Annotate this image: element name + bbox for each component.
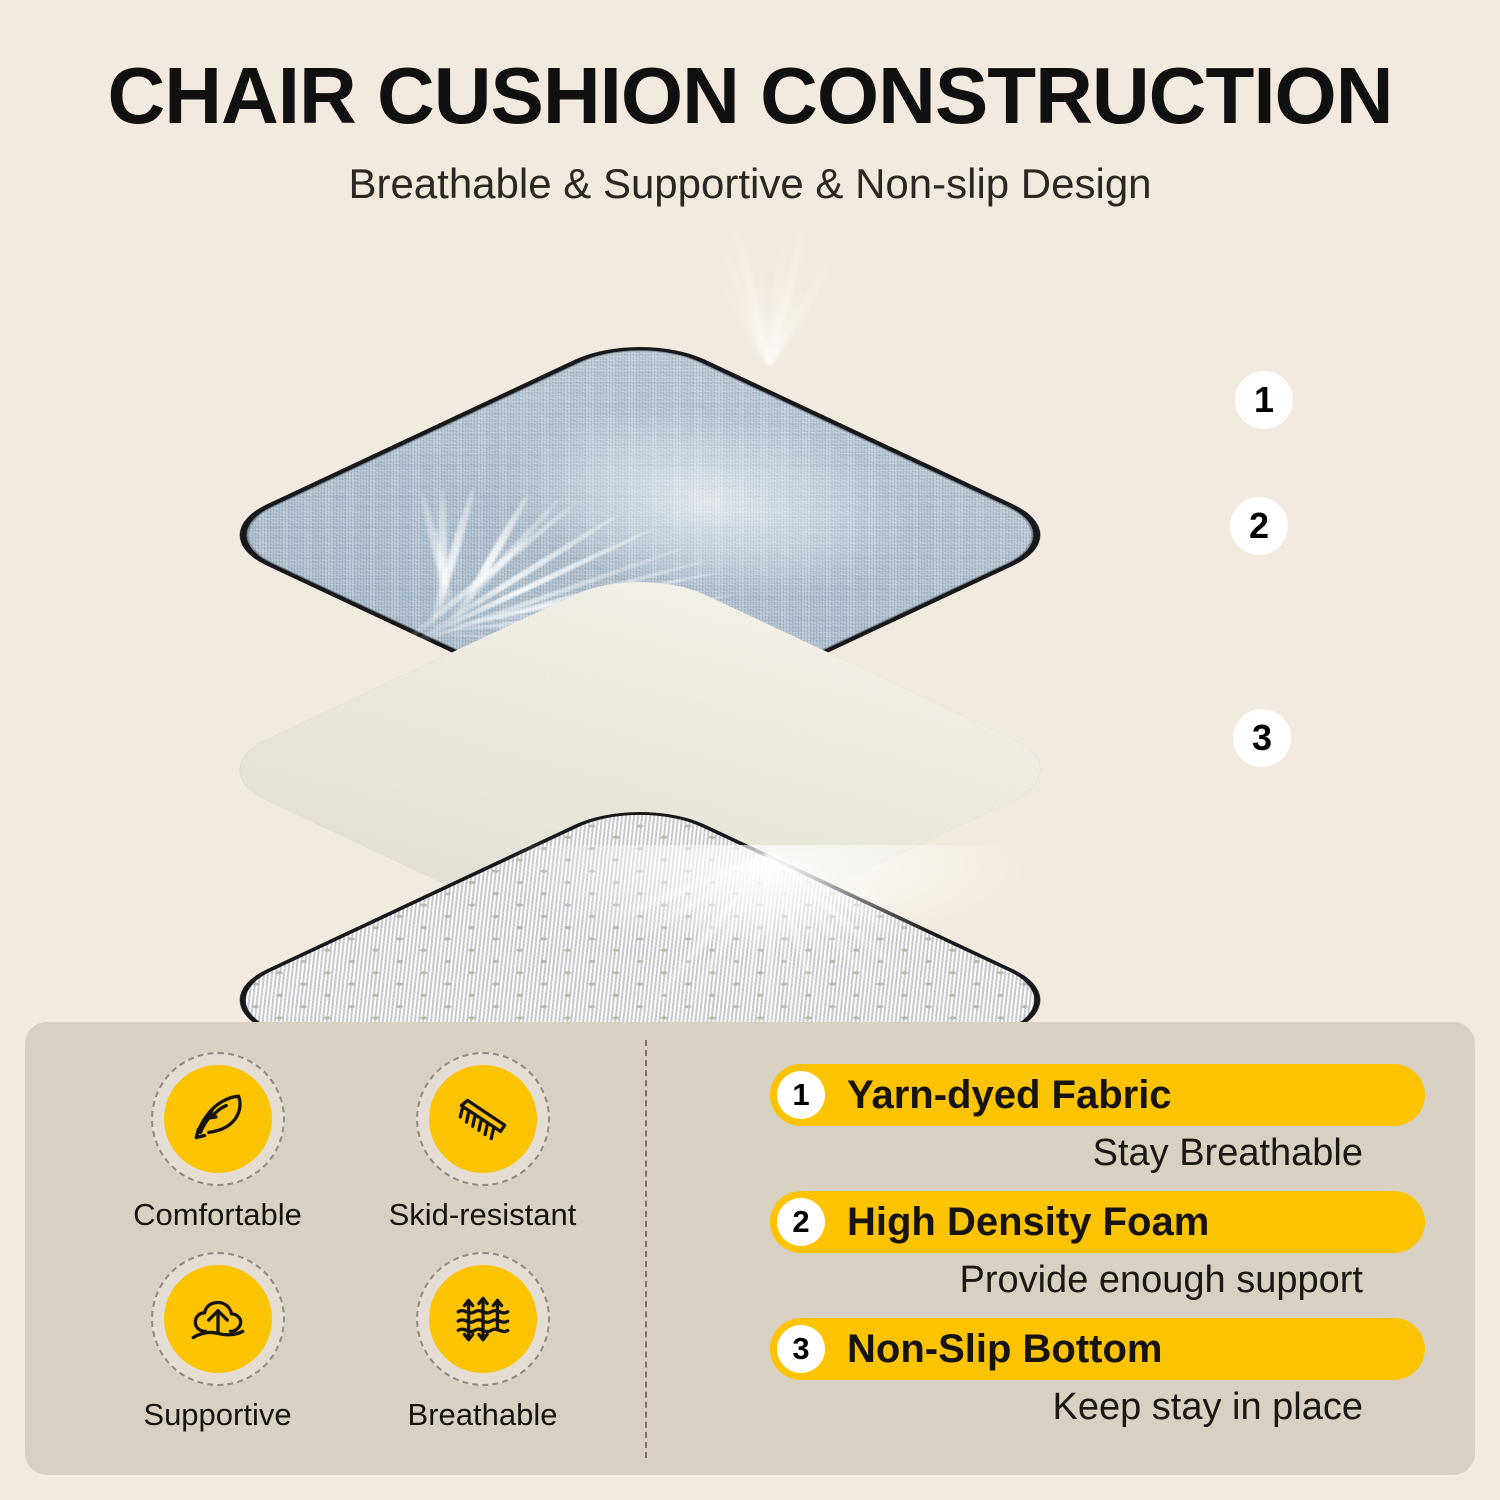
feature-row-3: 3 Non-Slip Bottom Keep stay in place xyxy=(770,1318,1425,1429)
airflow-waves-icon xyxy=(429,1265,537,1373)
feature-subtitle: Provide enough support xyxy=(770,1259,1425,1302)
feature-number-badge: 2 xyxy=(777,1198,825,1246)
icon-ring xyxy=(416,1052,550,1186)
feature-title: Non-Slip Bottom xyxy=(847,1327,1163,1372)
feature-card: Comfortable xyxy=(25,1022,1475,1475)
feature-subtitle: Stay Breathable xyxy=(770,1132,1425,1175)
grip-brush-icon xyxy=(429,1065,537,1173)
benefit-label: Comfortable xyxy=(133,1197,302,1233)
feather-icon xyxy=(164,1065,272,1173)
benefit-skid-resistant: Skid-resistant xyxy=(350,1052,615,1252)
icon-ring xyxy=(151,1052,285,1186)
benefit-breathable: Breathable xyxy=(350,1252,615,1452)
exploded-layer-diagram xyxy=(0,205,1500,1005)
benefit-comfortable: Comfortable xyxy=(85,1052,350,1252)
feature-row-1: 1 Yarn-dyed Fabric Stay Breathable xyxy=(770,1064,1425,1175)
benefit-label: Breathable xyxy=(408,1397,558,1433)
feature-number-badge: 3 xyxy=(777,1325,825,1373)
feature-pill: 3 Non-Slip Bottom xyxy=(770,1318,1425,1380)
feature-title: High Density Foam xyxy=(847,1200,1209,1245)
layer-badge-3: 3 xyxy=(1233,709,1291,767)
feature-title: Yarn-dyed Fabric xyxy=(847,1073,1172,1118)
feature-list: 1 Yarn-dyed Fabric Stay Breathable 2 Hig… xyxy=(770,1064,1425,1429)
icon-ring xyxy=(151,1252,285,1386)
layer-badge-1: 1 xyxy=(1235,371,1293,429)
page-subtitle: Breathable & Supportive & Non-slip Desig… xyxy=(0,160,1500,208)
benefit-icon-grid: Comfortable xyxy=(85,1052,615,1452)
feature-row-2: 2 High Density Foam Provide enough suppo… xyxy=(770,1191,1425,1302)
benefit-supportive: Supportive xyxy=(85,1252,350,1452)
benefit-label: Skid-resistant xyxy=(389,1197,577,1233)
feature-number-badge: 1 xyxy=(777,1071,825,1119)
feature-pill: 2 High Density Foam xyxy=(770,1191,1425,1253)
icon-ring xyxy=(416,1252,550,1386)
layer-badge-2: 2 xyxy=(1230,497,1288,555)
feature-pill: 1 Yarn-dyed Fabric xyxy=(770,1064,1425,1126)
feature-subtitle: Keep stay in place xyxy=(770,1386,1425,1429)
benefit-label: Supportive xyxy=(143,1397,291,1433)
cloud-up-arrow-icon xyxy=(164,1265,272,1373)
card-divider xyxy=(645,1040,647,1458)
infographic-page: CHAIR CUSHION CONSTRUCTION Breathable & … xyxy=(0,0,1500,1500)
header: CHAIR CUSHION CONSTRUCTION Breathable & … xyxy=(0,0,1500,208)
page-title: CHAIR CUSHION CONSTRUCTION xyxy=(0,56,1500,136)
